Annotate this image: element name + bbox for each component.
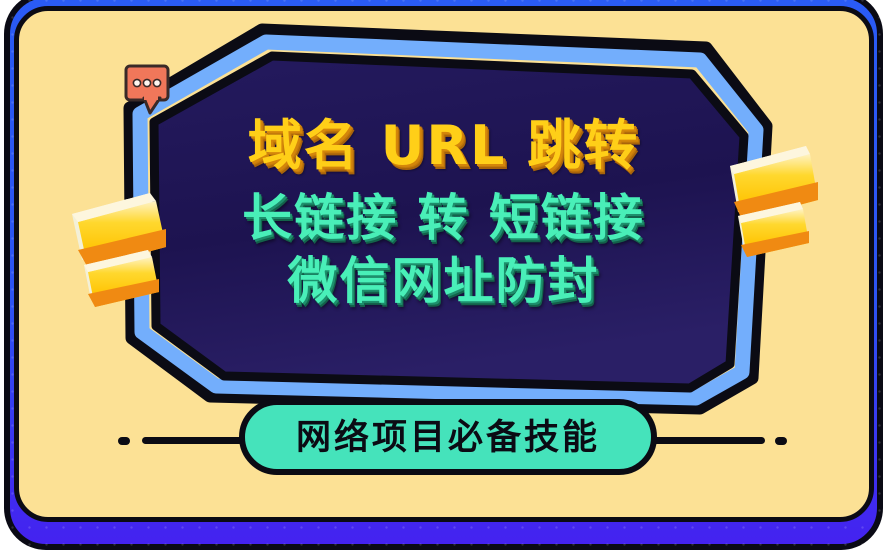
- bottom-badge-label: 网络项目必备技能: [296, 420, 600, 455]
- decor-dot-right: [775, 437, 787, 445]
- bottom-badge-pill[interactable]: 网络项目必备技能: [239, 399, 657, 475]
- poster-canvas: 域名 URL 跳转 长链接 转 短链接 微信网址防封 网络项目必备技能: [0, 0, 887, 552]
- decor-dot-left: [118, 437, 130, 445]
